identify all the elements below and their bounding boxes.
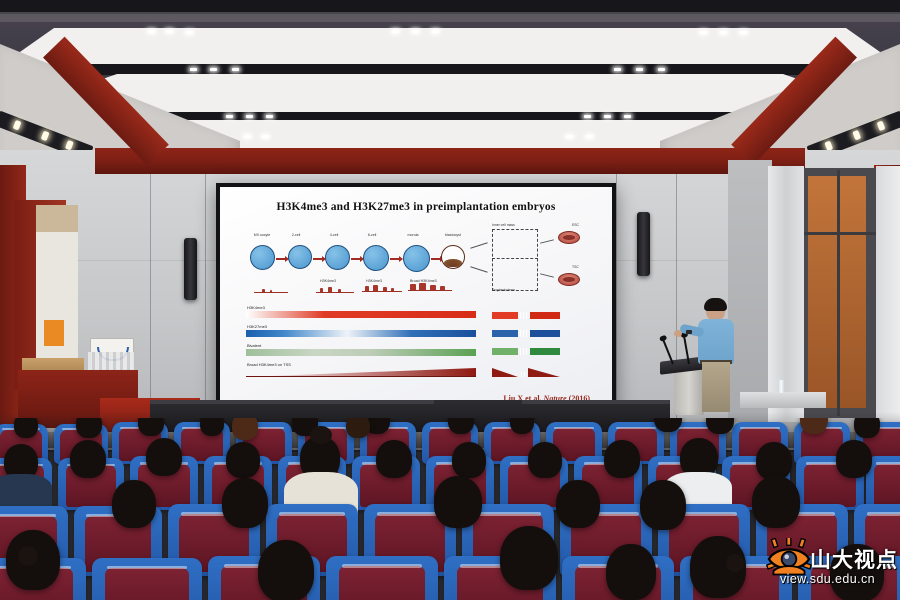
signal-track [408, 283, 452, 292]
mini-block [492, 330, 518, 337]
lineage-box [492, 229, 538, 291]
esc-label: ESC [572, 223, 579, 227]
track-label: H3K4me3 [366, 279, 382, 283]
audience-head [70, 440, 106, 478]
bar-bivalent [246, 349, 476, 356]
audience-head [640, 480, 686, 530]
presenter-legs [702, 362, 730, 412]
audience-head [146, 438, 182, 476]
watermark-title: 山大视点 [810, 544, 898, 574]
audience-head [226, 442, 260, 478]
audience-seating [0, 418, 900, 600]
signal-track [254, 285, 288, 294]
water-bottle-right [779, 380, 784, 393]
bar-h3k27me3 [246, 330, 476, 337]
mini-block [492, 368, 518, 377]
hair-bun [310, 426, 332, 444]
wall-trim-top [95, 148, 805, 174]
slide-title: H3K4me3 and H3K27me3 in preimplantation … [220, 201, 612, 213]
hair-bun [726, 554, 744, 572]
audience-head [434, 476, 482, 528]
bar-h3k4me3 [246, 311, 476, 318]
embryo-blastocyst [441, 245, 465, 269]
audience-head [854, 418, 880, 438]
audience-head [556, 480, 600, 528]
bar-label: Bivalent [247, 343, 476, 348]
seat[interactable] [326, 556, 438, 600]
audience-head [112, 480, 156, 528]
bar-label: H3K27me3 [247, 324, 476, 329]
watermark-url: view.sdu.edu.cn [780, 572, 875, 586]
watermark: 山大视点 view.sdu.edu.cn [766, 536, 890, 592]
stage-label: morula [398, 233, 428, 237]
mini-block [528, 368, 560, 377]
mini-block [530, 348, 560, 355]
esc-culture-dish [558, 231, 580, 244]
lineage-divider [492, 258, 538, 259]
presenter-watch [686, 330, 692, 334]
audience-shoulders [0, 474, 52, 508]
wall-speaker-left [184, 238, 197, 300]
lecture-hall-photo: H3K4me3 and H3K27me3 in preimplantation … [0, 0, 900, 600]
presenter-hair [704, 298, 727, 311]
audience-head [452, 442, 486, 478]
audience-head [528, 442, 562, 478]
audience-head [756, 442, 792, 480]
audience-head [14, 418, 38, 438]
audience-head [200, 418, 224, 436]
embryo-stage-diagram: MII oocyte 2-cell 4-cell 8-cell morula [246, 233, 526, 279]
audience-head [706, 418, 734, 434]
stage-label: 4-cell [320, 233, 348, 237]
track-label: H3K4me3 [320, 279, 336, 283]
side-table-right [740, 392, 826, 408]
tsc-label: TSC [572, 265, 579, 269]
histone-mark-bars: H3K4me3 H3K27me3 Bivalent Broad H3K4me3 … [246, 305, 476, 377]
audience-head [752, 476, 800, 528]
signal-track [316, 285, 354, 294]
audience-head [606, 544, 656, 600]
bar-label: H3K4me3 [247, 305, 476, 310]
tsc-culture-dish [558, 273, 580, 286]
mini-block [530, 312, 560, 319]
stage-label: blastocyst [436, 233, 470, 237]
embryo-2-cell [288, 245, 312, 269]
presenter-hand [674, 330, 682, 337]
window-curtain [768, 166, 804, 422]
embryo-8-cell [363, 245, 389, 271]
te-label: Trophectoderm [492, 288, 515, 292]
projection-screen-frame: H3K4me3 and H3K27me3 in preimplantation … [216, 183, 616, 417]
histone-mark-mini-blocks [492, 305, 578, 383]
seat[interactable] [92, 558, 202, 600]
embryo-morula [403, 245, 430, 272]
audience-head [222, 478, 268, 528]
audience-head [836, 440, 872, 478]
stage-label: 2-cell [282, 233, 310, 237]
stage-label: MII oocyte [244, 233, 280, 237]
audience-head [76, 418, 102, 438]
audience-head [258, 540, 314, 600]
mini-block [492, 312, 518, 319]
audience-head [376, 440, 412, 478]
orange-notice-sign [44, 320, 64, 346]
projected-slide: H3K4me3 and H3K27me3 in preimplantation … [220, 187, 612, 413]
embryo-4-cell [325, 245, 350, 270]
presenter [694, 300, 738, 412]
signal-track [362, 284, 402, 293]
mini-block [492, 348, 518, 355]
audience-head [500, 526, 558, 590]
hair-bun [18, 546, 38, 566]
window-mullion [837, 170, 840, 416]
mini-block [530, 330, 560, 337]
presenter-torso [698, 319, 734, 364]
embryo-mii-oocyte [250, 245, 275, 270]
stage-label: 8-cell [358, 233, 386, 237]
window-curtain-right [876, 166, 900, 422]
icm-label: Inner cell mass [492, 223, 515, 227]
bar-label: Broad H3K4me3 on TSS [247, 362, 476, 367]
wall-speaker-right [637, 212, 650, 276]
audience-head [346, 418, 370, 438]
audience-head [232, 418, 258, 440]
audience-head [604, 440, 640, 478]
